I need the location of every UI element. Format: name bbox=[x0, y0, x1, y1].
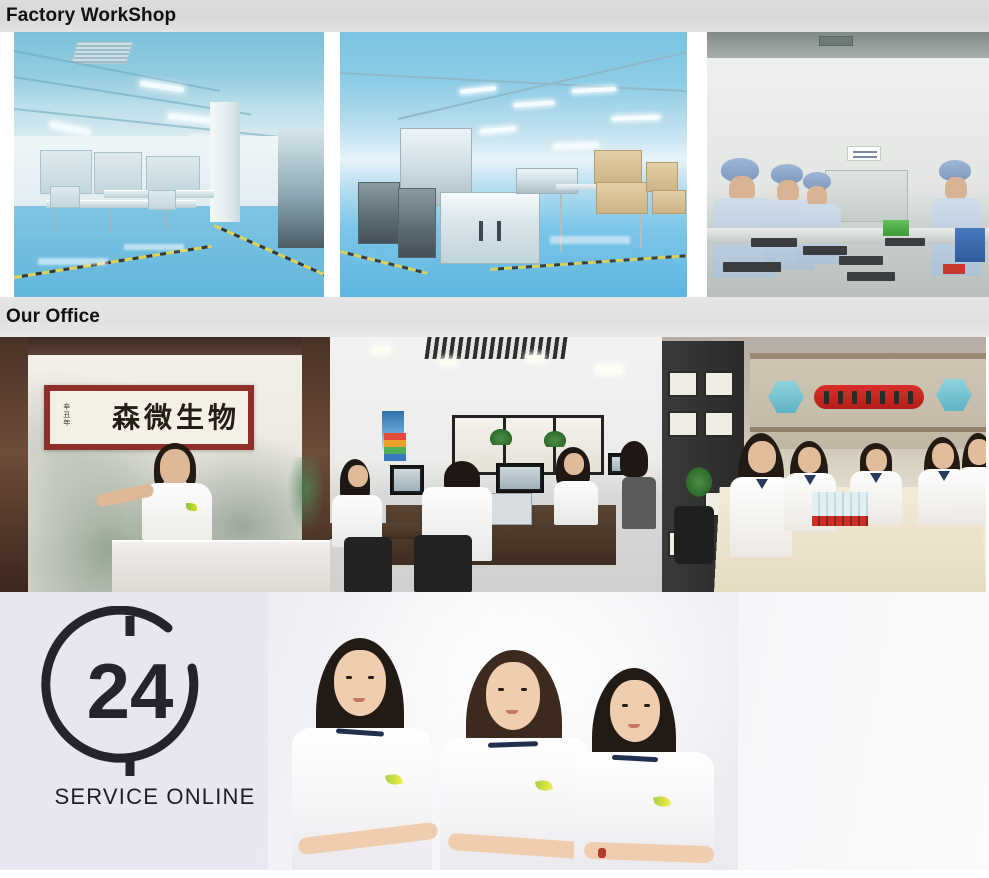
product-tray bbox=[839, 256, 883, 265]
stainless-cabinet bbox=[440, 192, 540, 264]
product-bottles bbox=[812, 492, 868, 526]
overhead-rail bbox=[340, 72, 687, 92]
office-photo-reception-desk[interactable]: 辛丑年 森微生物 bbox=[0, 337, 330, 592]
office-photo-row: 辛丑年 森微生物 bbox=[0, 337, 989, 592]
calligraphy-plaque: 辛丑年 森微生物 bbox=[44, 385, 254, 450]
staff-eye bbox=[346, 676, 352, 679]
ceiling-light bbox=[572, 87, 616, 93]
employee-face bbox=[564, 453, 584, 475]
red-item bbox=[943, 264, 965, 274]
wrist-band bbox=[598, 848, 606, 858]
stainless-trolley bbox=[50, 186, 80, 208]
member-face bbox=[932, 443, 954, 469]
conveyor-bench bbox=[707, 228, 989, 244]
product-tray bbox=[751, 238, 797, 247]
product-tray bbox=[847, 272, 895, 281]
carton-box bbox=[594, 150, 642, 184]
wall-sign bbox=[847, 146, 881, 161]
service-online-label: SERVICE ONLINE bbox=[40, 784, 270, 810]
staff-eye bbox=[368, 676, 374, 679]
floor-reflection bbox=[124, 244, 184, 250]
leaf-logo-icon bbox=[186, 503, 197, 511]
product-tray bbox=[803, 246, 847, 255]
meeting-chair bbox=[674, 506, 714, 564]
wall-cabinet bbox=[146, 156, 200, 192]
office-section-title: Our Office bbox=[0, 306, 100, 328]
office-section-header: Our Office bbox=[0, 297, 989, 337]
display-shelf bbox=[750, 427, 986, 432]
reception-counter bbox=[112, 540, 330, 592]
banner-photo-three-staff[interactable] bbox=[268, 592, 738, 870]
ceiling-light bbox=[168, 114, 216, 124]
laptop bbox=[488, 493, 532, 525]
monitor bbox=[496, 463, 544, 493]
color-chart bbox=[384, 433, 406, 461]
monitor bbox=[390, 465, 424, 495]
member-face bbox=[866, 449, 887, 473]
factory-photo-cleanroom-machines[interactable] bbox=[340, 32, 687, 297]
employee-shirt bbox=[554, 481, 598, 525]
office-photo-open-plan[interactable] bbox=[330, 337, 662, 592]
red-display-shelf bbox=[814, 385, 924, 409]
member-polo bbox=[730, 477, 792, 557]
ceiling-light bbox=[554, 143, 598, 149]
staff-eye bbox=[644, 704, 650, 707]
bench-leg bbox=[110, 208, 112, 234]
office-chair bbox=[622, 477, 656, 529]
ceiling-light bbox=[514, 101, 554, 108]
ceiling-vent bbox=[819, 36, 853, 46]
factory-photo-row bbox=[0, 32, 989, 297]
overhead-rail bbox=[398, 51, 687, 120]
factory-photo-cleanroom-overview[interactable] bbox=[14, 32, 324, 297]
member-face bbox=[798, 447, 821, 473]
filling-machine bbox=[516, 168, 578, 194]
staff-eye bbox=[622, 704, 628, 707]
decorative-plant bbox=[286, 457, 326, 537]
desk-plant bbox=[544, 431, 566, 447]
machine-base bbox=[358, 182, 400, 244]
office-chair bbox=[344, 537, 392, 592]
ceiling-light bbox=[372, 347, 390, 353]
staff-face bbox=[334, 650, 386, 716]
factory-section-title: Factory WorkShop bbox=[0, 5, 176, 27]
stainless-trolley bbox=[148, 190, 176, 210]
receptionist-face bbox=[160, 449, 190, 485]
ceiling-light bbox=[596, 365, 622, 374]
ceiling-light bbox=[480, 126, 516, 133]
product-tray bbox=[723, 262, 781, 272]
floor-reflection bbox=[550, 236, 630, 244]
carton-box bbox=[596, 182, 648, 214]
plaque-seal-text: 辛丑年 bbox=[62, 403, 70, 427]
ceiling-light bbox=[526, 355, 544, 361]
employee-hair bbox=[620, 441, 648, 477]
factory-photo-assembly-line-workers[interactable] bbox=[707, 32, 989, 297]
blue-bin bbox=[955, 228, 985, 262]
member-polo bbox=[956, 467, 986, 525]
staff-face bbox=[486, 662, 540, 730]
green-bin bbox=[883, 220, 909, 236]
floor-reflection bbox=[38, 258, 108, 265]
staff-face bbox=[610, 680, 660, 742]
ceiling-light bbox=[440, 359, 456, 365]
member-face bbox=[748, 441, 776, 473]
clock-number: 24 bbox=[87, 647, 174, 735]
factory-section-header: Factory WorkShop bbox=[0, 0, 989, 32]
ceiling-beam bbox=[0, 337, 330, 355]
employee-face bbox=[348, 465, 368, 487]
potted-plant bbox=[684, 465, 714, 499]
office-chair bbox=[414, 535, 472, 592]
machine-base bbox=[398, 188, 436, 258]
ceiling-vent bbox=[71, 42, 133, 64]
equipment-rack bbox=[278, 128, 324, 248]
bench-leg bbox=[54, 208, 56, 234]
product-tray bbox=[885, 238, 925, 246]
member-face bbox=[968, 439, 986, 465]
carton-box bbox=[652, 190, 686, 214]
ceiling-light bbox=[50, 122, 90, 135]
24-hour-clock-icon: 24 bbox=[40, 606, 220, 786]
ceiling-light bbox=[612, 115, 660, 121]
ceiling-slats bbox=[424, 337, 567, 359]
carton-box bbox=[646, 162, 678, 192]
desk-plant bbox=[490, 429, 512, 445]
plaque-calligraphy: 森微生物 bbox=[112, 404, 248, 432]
staff-eye bbox=[498, 688, 504, 691]
office-photo-meeting-room[interactable] bbox=[662, 337, 986, 592]
wall-cabinet bbox=[94, 152, 142, 194]
staff-eye bbox=[521, 688, 527, 691]
wood-column-left bbox=[0, 337, 28, 592]
ceiling-light bbox=[460, 86, 496, 94]
support-pillar bbox=[210, 102, 240, 222]
service-banner: 24 SERVICE ONLINE bbox=[0, 592, 989, 870]
